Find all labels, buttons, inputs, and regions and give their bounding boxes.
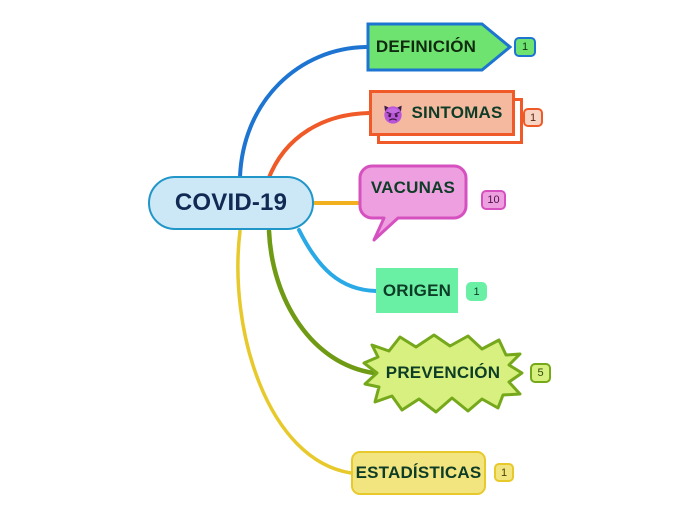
- branch-node-vacunas[interactable]: VACUNAS: [358, 164, 468, 242]
- branch-node-prevencion-label: PREVENCIÓN: [362, 363, 524, 383]
- branch-node-prevencion[interactable]: PREVENCIÓN: [362, 332, 524, 414]
- badge-estadisticas-count: 1: [501, 467, 507, 479]
- badge-vacunas[interactable]: 10: [481, 190, 506, 210]
- branch-node-origen[interactable]: ORIGEN: [376, 268, 458, 313]
- badge-origen-count: 1: [473, 286, 479, 298]
- connector-estadisticas: [238, 231, 351, 473]
- branch-node-sintomas[interactable]: SINTOMAS: [369, 90, 515, 136]
- central-node-covid-19[interactable]: COVID-19: [148, 176, 314, 230]
- central-node-label: COVID-19: [175, 189, 287, 217]
- badge-sintomas[interactable]: 1: [523, 108, 543, 127]
- connector-sintomas: [268, 113, 369, 180]
- connector-prevencion: [269, 231, 374, 373]
- badge-origen[interactable]: 1: [466, 282, 487, 301]
- branch-node-origen-label: ORIGEN: [383, 281, 451, 301]
- branch-node-vacunas-label: VACUNAS: [358, 178, 468, 198]
- branch-node-estadisticas-label: ESTADÍSTICAS: [356, 463, 482, 483]
- branch-node-definicion-label: DEFINICIÓN: [376, 37, 476, 57]
- mindmap-canvas: [0, 0, 696, 520]
- badge-prevencion[interactable]: 5: [530, 363, 551, 383]
- badge-vacunas-count: 10: [487, 194, 499, 206]
- badge-estadisticas[interactable]: 1: [494, 463, 514, 482]
- angry-devil-emoji-icon: [381, 101, 405, 125]
- connector-definicion: [240, 47, 366, 177]
- badge-definicion-count: 1: [522, 41, 528, 53]
- branch-node-definicion[interactable]: DEFINICIÓN: [366, 22, 512, 72]
- badge-prevencion-count: 5: [537, 367, 543, 379]
- branch-node-sintomas-label: SINTOMAS: [411, 103, 502, 123]
- badge-sintomas-count: 1: [530, 112, 536, 124]
- branch-node-estadisticas[interactable]: ESTADÍSTICAS: [351, 451, 486, 495]
- sintomas-front-frame: SINTOMAS: [369, 90, 515, 136]
- speech-bubble-shape: [358, 164, 468, 242]
- badge-definicion[interactable]: 1: [514, 37, 536, 57]
